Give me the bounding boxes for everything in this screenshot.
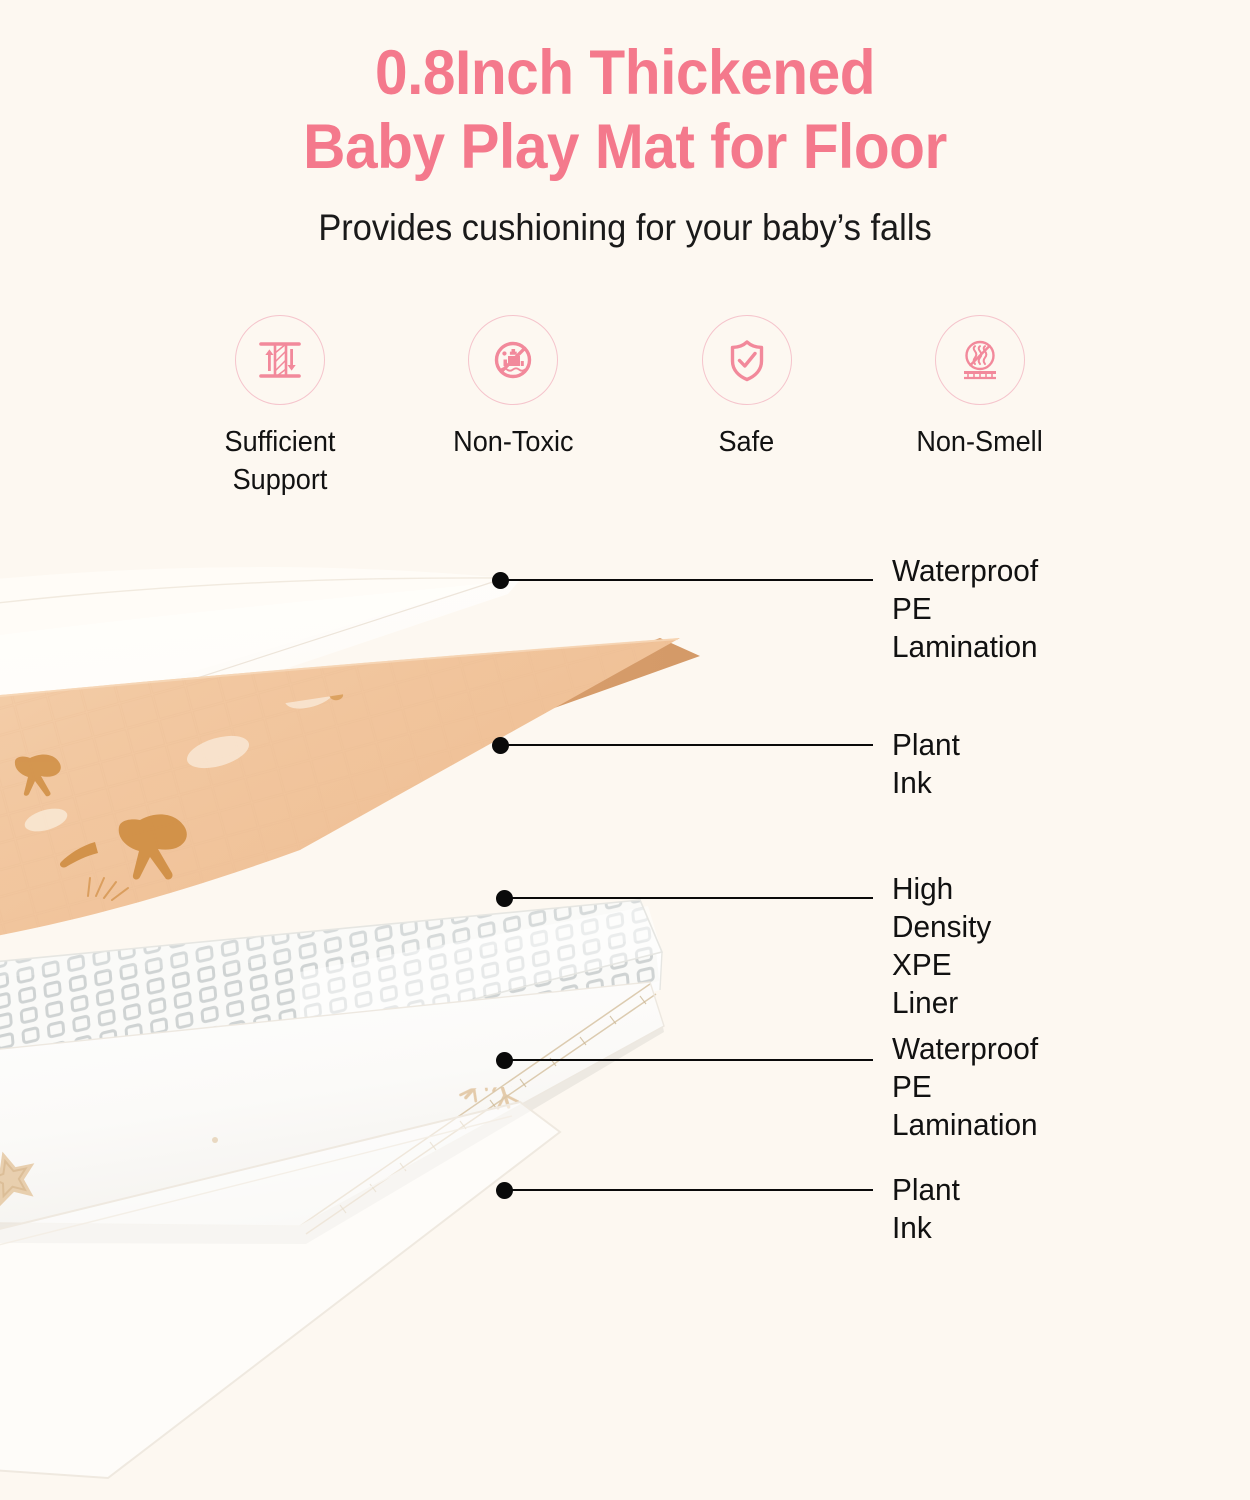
callout-label: Waterproof PE Lamination [892, 552, 1038, 666]
exploded-mat-illustration [0, 520, 900, 1500]
callout-label: Plant Ink [892, 726, 960, 802]
feature-circle [935, 315, 1025, 405]
callout-line [509, 897, 873, 899]
callout-label: Plant Ink [892, 1171, 960, 1247]
page-title: 0.8Inch Thickened Baby Play Mat for Floo… [160, 36, 1090, 185]
product-infographic: 0.8Inch Thickened Baby Play Mat for Floo… [0, 0, 1250, 1500]
feature-label: Non-Toxic [453, 424, 573, 462]
feature-label: Non-Smell [917, 424, 1043, 462]
feature-circle [468, 315, 558, 405]
feature-non-smell: Non-Smell [880, 315, 1080, 462]
feature-label: Safe [719, 424, 775, 462]
feature-safe: Safe [647, 315, 847, 462]
no-chemicals-icon [484, 331, 542, 389]
callout-label: Waterproof PE Lamination [892, 1030, 1038, 1144]
feature-badge-row: Sufficient Support [180, 315, 1080, 499]
feature-circle [235, 315, 325, 405]
title-line-2: Baby Play Mat for Floor [160, 110, 1090, 184]
callout-line [509, 1059, 873, 1061]
callout-line [505, 744, 873, 746]
thickness-support-icon [251, 331, 309, 389]
callout-label: High Density XPE Liner [892, 870, 991, 1023]
callout-line [505, 579, 873, 581]
feature-non-toxic: Non-Toxic [413, 315, 613, 462]
feature-circle [702, 315, 792, 405]
title-line-1: 0.8Inch Thickened [160, 36, 1090, 110]
no-smell-icon [951, 331, 1009, 389]
feature-label: Sufficient Support [214, 424, 347, 499]
page-subtitle: Provides cushioning for your baby’s fall… [44, 207, 1207, 249]
shield-check-icon [718, 331, 776, 389]
callout-line [509, 1189, 873, 1191]
feature-sufficient-support: Sufficient Support [180, 315, 380, 499]
header: 0.8Inch Thickened Baby Play Mat for Floo… [0, 0, 1250, 249]
